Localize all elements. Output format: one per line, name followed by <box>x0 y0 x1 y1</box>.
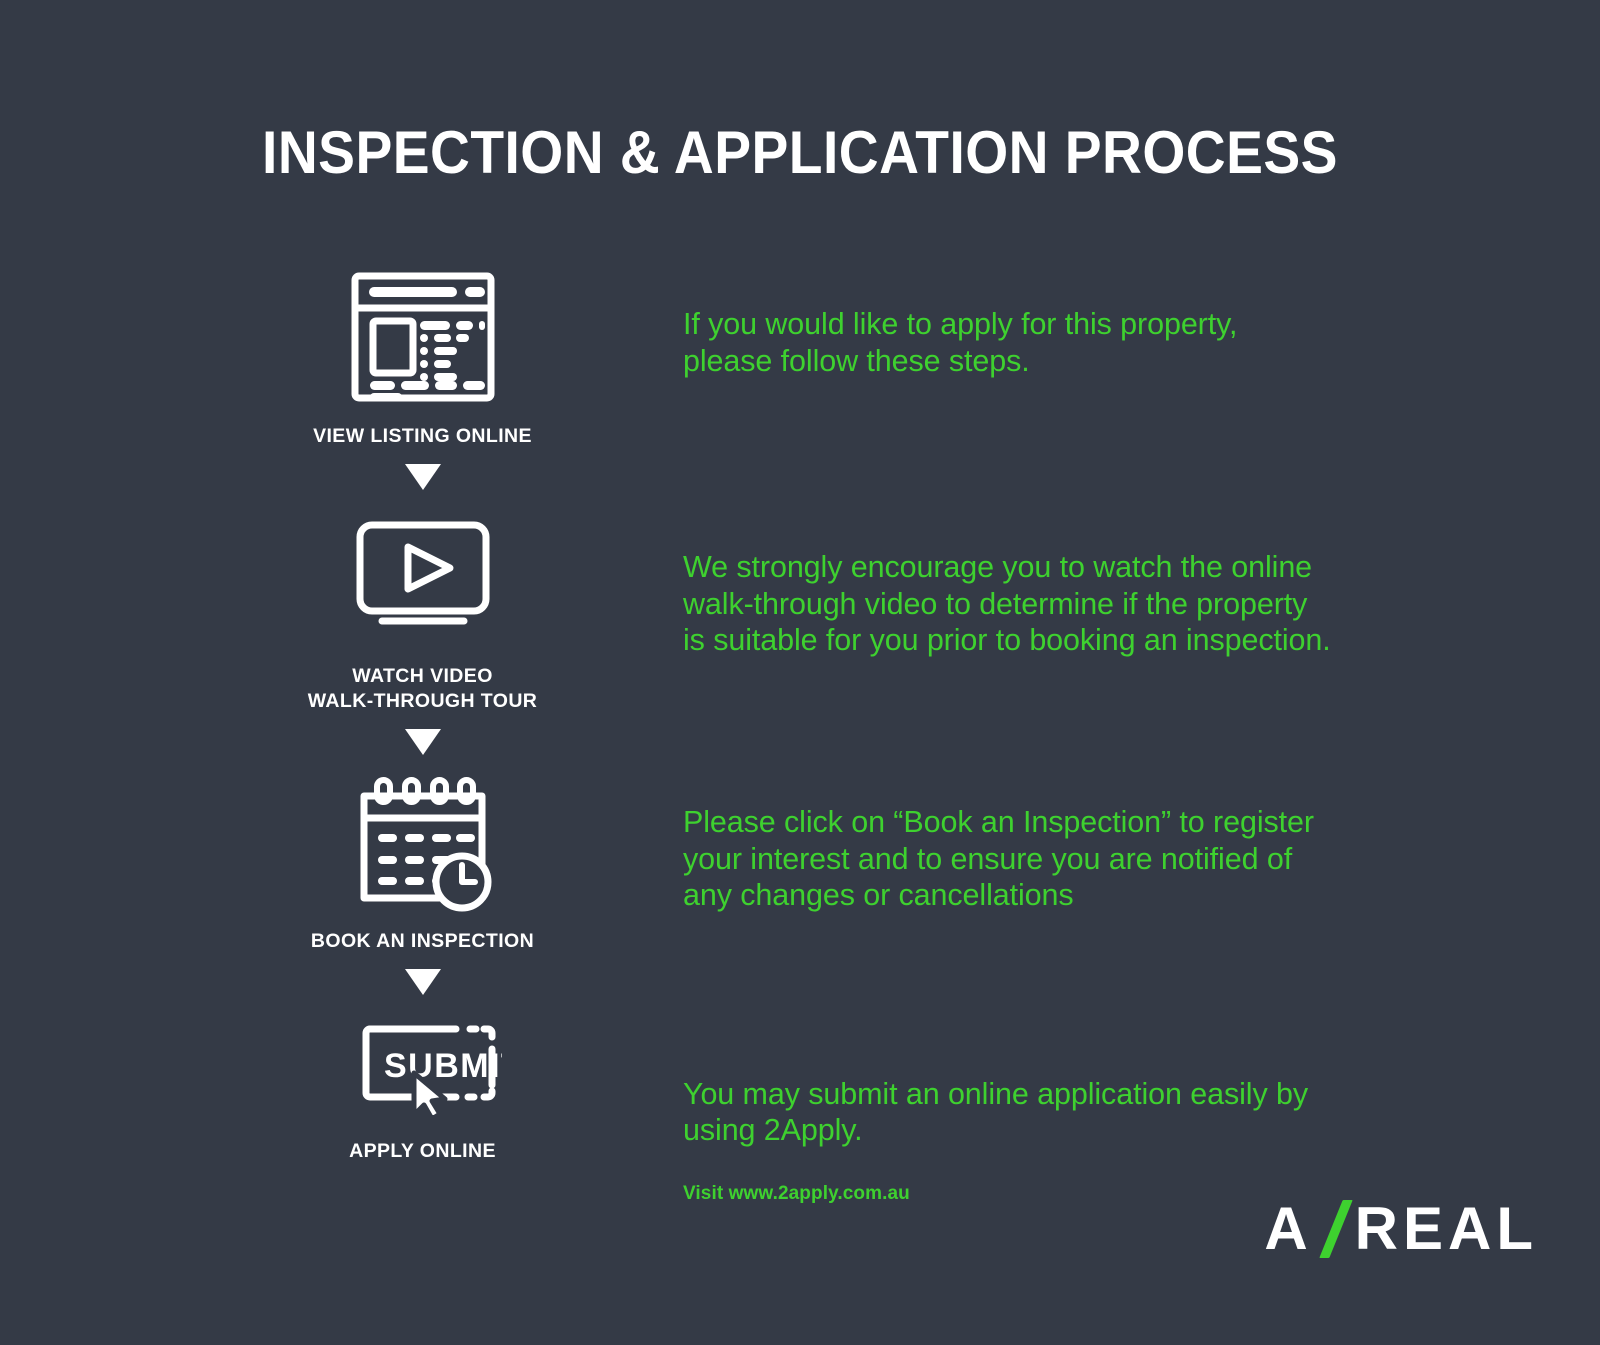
step-label: BOOK AN INSPECTION <box>240 929 605 955</box>
submit-button-cursor-icon: SUBMIT <box>240 1007 605 1127</box>
page-title: INSPECTION & APPLICATION PROCESS <box>64 118 1536 187</box>
infographic-canvas: INSPECTION & APPLICATION PROCESS <box>0 0 1600 1345</box>
description-column: If you would like to apply for this prop… <box>683 262 1423 1205</box>
webpage-listing-icon <box>240 262 605 412</box>
step-view-listing-online[interactable]: VIEW LISTING ONLINE <box>240 262 605 450</box>
brand-logo[interactable]: A REAL <box>1264 1197 1538 1261</box>
step-label: VIEW LISTING ONLINE <box>240 424 605 450</box>
flow-arrow-3-wrap <box>240 955 605 1007</box>
description-paragraph-1: If you would like to apply for this prop… <box>683 306 1423 379</box>
description-paragraph-3: Please click on “Book an Inspection” to … <box>683 804 1423 914</box>
step-book-an-inspection[interactable]: BOOK AN INSPECTION <box>240 767 605 955</box>
flow-arrow-1-wrap <box>240 450 605 502</box>
step-label: APPLY ONLINE <box>240 1139 605 1165</box>
submit-icon-text: SUBMIT <box>384 1047 502 1085</box>
logo-wordmark-real: REAL <box>1355 1199 1538 1259</box>
logo-slash-icon <box>1319 1200 1353 1258</box>
description-paragraph-4: You may submit an online application eas… <box>683 1076 1423 1149</box>
down-arrow-icon <box>405 729 441 755</box>
logo-letter-a: A <box>1264 1199 1312 1259</box>
flow-arrow-2-wrap <box>240 715 605 767</box>
step-apply-online[interactable]: SUBMIT APPLY ONLINE <box>240 1007 605 1165</box>
steps-column: VIEW LISTING ONLINE WATCH VIDEO WALK-THR… <box>240 262 605 1165</box>
down-arrow-icon <box>405 969 441 995</box>
calendar-clock-icon <box>240 767 605 917</box>
step-watch-video-walkthrough[interactable]: WATCH VIDEO WALK-THROUGH TOUR <box>240 502 605 715</box>
down-arrow-icon <box>405 464 441 490</box>
video-player-icon <box>240 502 605 652</box>
step-label: WATCH VIDEO WALK-THROUGH TOUR <box>240 664 605 715</box>
description-paragraph-2: We strongly encourage you to watch the o… <box>683 549 1423 659</box>
